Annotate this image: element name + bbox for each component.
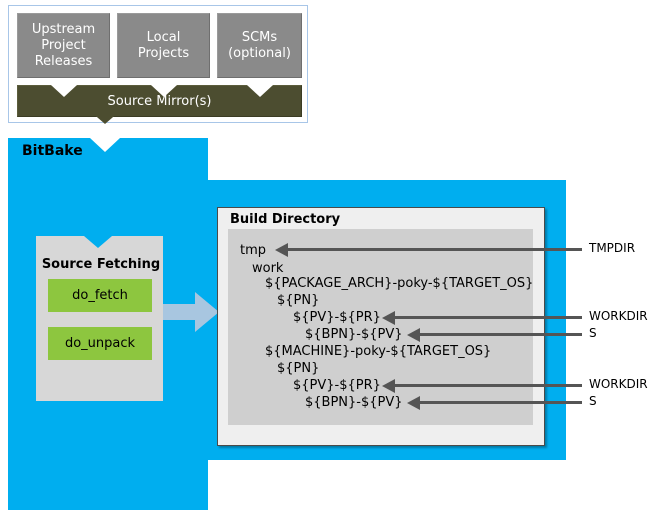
tree-row: ${PV}-${PR} xyxy=(293,310,381,325)
task-box-do-fetch[interactable]: do_fetch xyxy=(48,279,152,312)
variable-label-s-1: S xyxy=(589,326,597,340)
tree-row: ${BPN}-${PV} xyxy=(305,327,403,342)
source-fetching-outlet-notch xyxy=(84,389,112,401)
variable-label-tmpdir: TMPDIR xyxy=(589,241,635,255)
source-group-container: Upstream Project Releases Local Projects… xyxy=(8,5,308,123)
mirror-inlet-notch-upstream xyxy=(51,85,77,97)
tree-row: ${PN} xyxy=(277,361,319,376)
leader-line-s-2 xyxy=(420,401,582,404)
source-box-local-projects: Local Projects xyxy=(117,13,210,78)
bitbake-panel-foot xyxy=(8,438,208,510)
bitbake-inlet-notch xyxy=(90,138,120,152)
source-box-label: SCMs (optional) xyxy=(228,30,291,62)
diagram-canvas: Upstream Project Releases Local Projects… xyxy=(0,0,669,519)
tree-row: work xyxy=(252,261,283,276)
tree-row: ${PN} xyxy=(277,293,319,308)
tree-row: tmp xyxy=(240,243,266,258)
mirror-inlet-notch-local xyxy=(151,85,177,97)
source-fetching-inlet-notch xyxy=(84,236,112,248)
leader-line-tmpdir xyxy=(288,248,582,251)
tree-row: ${PACKAGE_ARCH}-poky-${TARGET_OS} xyxy=(265,276,533,291)
source-box-label: Upstream Project Releases xyxy=(32,22,95,70)
leader-arrowhead-workdir-1 xyxy=(382,311,395,325)
tree-row: ${MACHINE}-poky-${TARGET_OS} xyxy=(265,344,491,359)
leader-line-workdir-2 xyxy=(395,384,582,387)
variable-label-workdir-1: WORKDIR xyxy=(589,309,648,323)
source-fetching-title: Source Fetching xyxy=(41,257,161,272)
variable-label-workdir-2: WORKDIR xyxy=(589,377,648,391)
source-box-upstream-project-releases: Upstream Project Releases xyxy=(17,13,110,78)
source-box-label: Local Projects xyxy=(138,30,189,62)
leader-arrowhead-workdir-2 xyxy=(382,379,395,393)
variable-label-s-2: S xyxy=(589,394,597,408)
task-box-do-unpack[interactable]: do_unpack xyxy=(48,327,152,360)
bitbake-label: BitBake xyxy=(22,143,83,159)
mirror-inlet-notch-scms xyxy=(247,85,273,97)
leader-line-s-1 xyxy=(420,333,582,336)
leader-line-workdir-1 xyxy=(395,316,582,319)
tree-row: ${PV}-${PR} xyxy=(293,378,381,393)
mirror-outlet-notch xyxy=(90,111,120,124)
leader-arrowhead-s-1 xyxy=(407,328,420,342)
source-box-scms-optional: SCMs (optional) xyxy=(217,13,302,78)
build-directory-title: Build Directory xyxy=(230,212,340,227)
leader-arrowhead-tmpdir xyxy=(275,243,288,257)
flow-arrow-icon xyxy=(163,292,219,332)
task-label: do_unpack xyxy=(65,336,135,351)
leader-arrowhead-s-2 xyxy=(407,396,420,410)
task-label: do_fetch xyxy=(72,288,128,303)
tree-row: ${BPN}-${PV} xyxy=(305,395,403,410)
